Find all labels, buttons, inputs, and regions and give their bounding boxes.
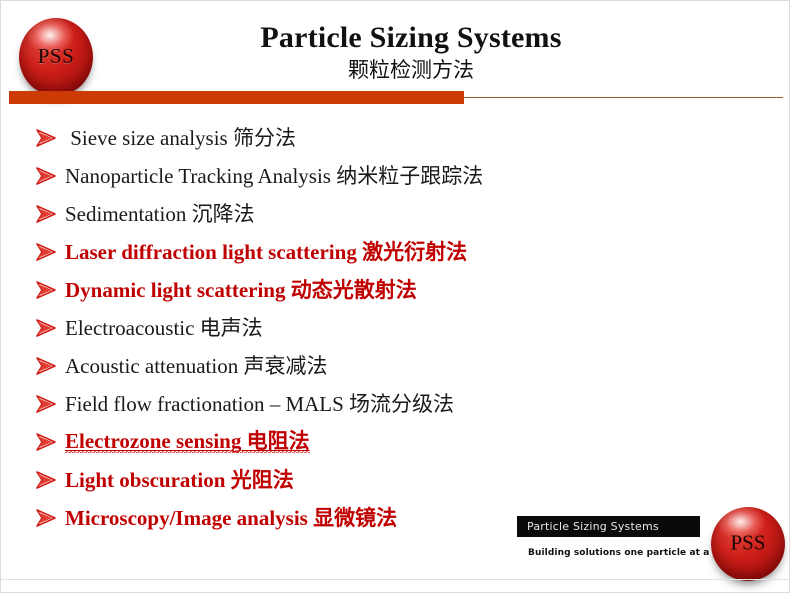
list-item-label: Laser diffraction light scattering 激光衍射法: [65, 242, 467, 263]
list-item: Light obscuration 光阻法: [1, 461, 790, 499]
slide: PSS Particle Sizing Systems 颗粒检测方法 Sieve…: [0, 0, 790, 593]
list-item: Electrozone sensing 电阻法: [1, 423, 790, 461]
title-block: Particle Sizing Systems 颗粒检测方法: [111, 21, 711, 83]
pss-sphere-logo-icon-footer: PSS: [711, 507, 785, 581]
list-item: Acoustic attenuation 声衰减法: [1, 347, 790, 385]
list-item-label: Dynamic light scattering 动态光散射法: [65, 280, 417, 301]
list-item: Electroacoustic 电声法: [1, 309, 790, 347]
list-item-label: Acoustic attenuation 声衰减法: [65, 356, 327, 377]
footer-company-name: Particle Sizing Systems: [517, 520, 659, 533]
header-divider-accent: [9, 91, 464, 104]
red-arrowhead-bullet-icon: [35, 280, 57, 300]
pss-logo-text-footer: PSS: [711, 531, 785, 556]
red-arrowhead-bullet-icon: [35, 394, 57, 414]
page-title: Particle Sizing Systems: [111, 21, 711, 55]
list-item-label: Nanoparticle Tracking Analysis 纳米粒子跟踪法: [65, 166, 483, 187]
list-item-label: Electrozone sensing 电阻法: [65, 431, 310, 453]
page-subtitle: 颗粒检测方法: [111, 57, 711, 83]
list-item-label: Sedimentation 沉降法: [65, 204, 255, 225]
red-arrowhead-bullet-icon: [35, 204, 57, 224]
list-item: Nanoparticle Tracking Analysis 纳米粒子跟踪法: [1, 157, 790, 195]
red-arrowhead-bullet-icon: [35, 470, 57, 490]
footer-tagline: Building solutions one particle at a tim…: [528, 548, 718, 558]
red-arrowhead-bullet-icon: [35, 128, 57, 148]
pss-sphere-logo-icon: PSS: [19, 18, 93, 96]
list-item-label: Microscopy/Image analysis 显微镜法: [65, 508, 397, 529]
list-item-label: Field flow fractionation – MALS 场流分级法: [65, 394, 454, 415]
list-item-label: Sieve size analysis 筛分法: [65, 128, 296, 149]
red-arrowhead-bullet-icon: [35, 166, 57, 186]
red-arrowhead-bullet-icon: [35, 242, 57, 262]
list-item: Sieve size analysis 筛分法: [1, 119, 790, 157]
footer-company-bar: Particle Sizing Systems: [517, 516, 700, 537]
red-arrowhead-bullet-icon: [35, 356, 57, 376]
list-item: Sedimentation 沉降法: [1, 195, 790, 233]
list-item: Dynamic light scattering 动态光散射法: [1, 271, 790, 309]
red-arrowhead-bullet-icon: [35, 432, 57, 452]
list-item: Laser diffraction light scattering 激光衍射法: [1, 233, 790, 271]
pss-logo-text: PSS: [19, 44, 93, 69]
bottom-divider: [1, 579, 790, 580]
list-item-label: Electroacoustic 电声法: [65, 318, 263, 339]
list-item: Field flow fractionation – MALS 场流分级法: [1, 385, 790, 423]
list-item-label: Light obscuration 光阻法: [65, 470, 294, 491]
slide-header: PSS Particle Sizing Systems 颗粒检测方法: [1, 1, 790, 101]
red-arrowhead-bullet-icon: [35, 318, 57, 338]
method-list: Sieve size analysis 筛分法Nanoparticle Trac…: [1, 119, 790, 537]
red-arrowhead-bullet-icon: [35, 508, 57, 528]
